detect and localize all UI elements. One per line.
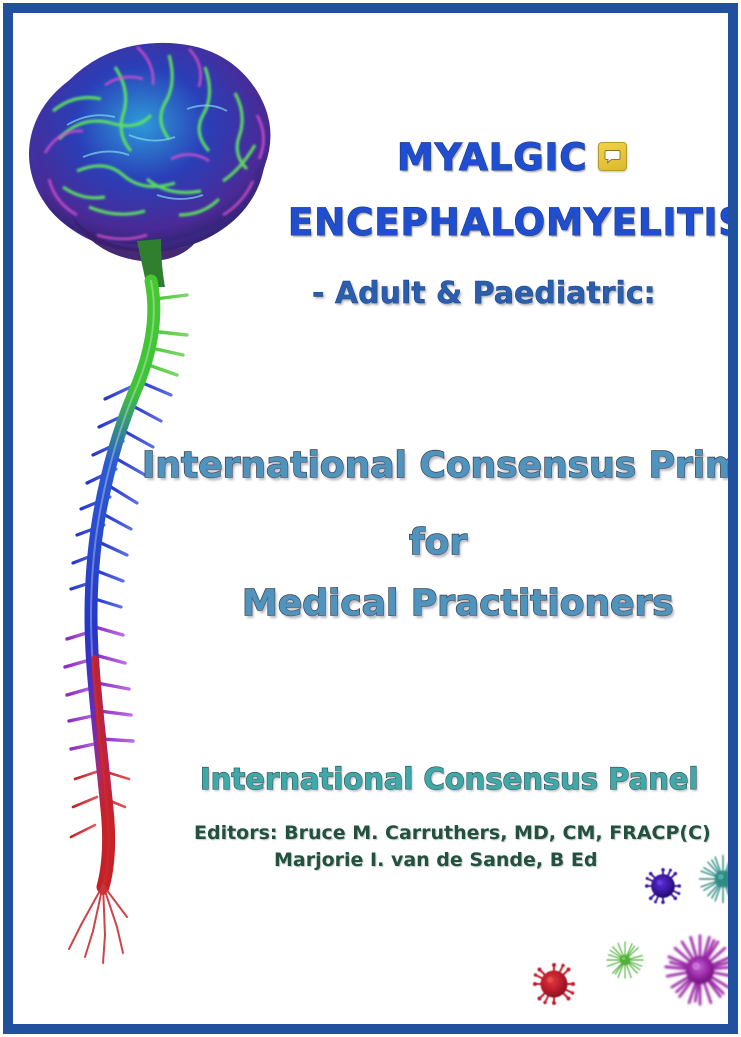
consensus-panel-label: International Consensus Panel	[200, 762, 698, 796]
title-line-myalgic: MYALGIC	[397, 136, 588, 179]
editors-line-2: Marjorie I. van de Sande, B Ed	[274, 849, 597, 871]
main-title-line-2: for	[409, 522, 467, 563]
title-line-encephalomyelitis: ENCEPHALOMYELITIS	[288, 201, 728, 244]
main-title-line-1: International Consensus Primer	[142, 445, 728, 486]
cover-text-column: MYALGIC ENCEPHALOMYELITIS - Adult & Paed…	[258, 13, 728, 1024]
book-cover: MYALGIC ENCEPHALOMYELITIS - Adult & Paed…	[0, 0, 741, 1037]
spinal-cord-shape	[65, 281, 189, 963]
cover-page-surface: MYALGIC ENCEPHALOMYELITIS - Adult & Paed…	[13, 13, 728, 1024]
comment-marker-icon[interactable]	[598, 142, 627, 171]
title-subtitle: - Adult & Paediatric:	[312, 276, 656, 311]
brain-shape	[29, 43, 270, 287]
main-title-line-3: Medical Practitioners	[242, 583, 674, 624]
editors-line-1: Editors: Bruce M. Carruthers, MD, CM, FR…	[194, 822, 711, 844]
